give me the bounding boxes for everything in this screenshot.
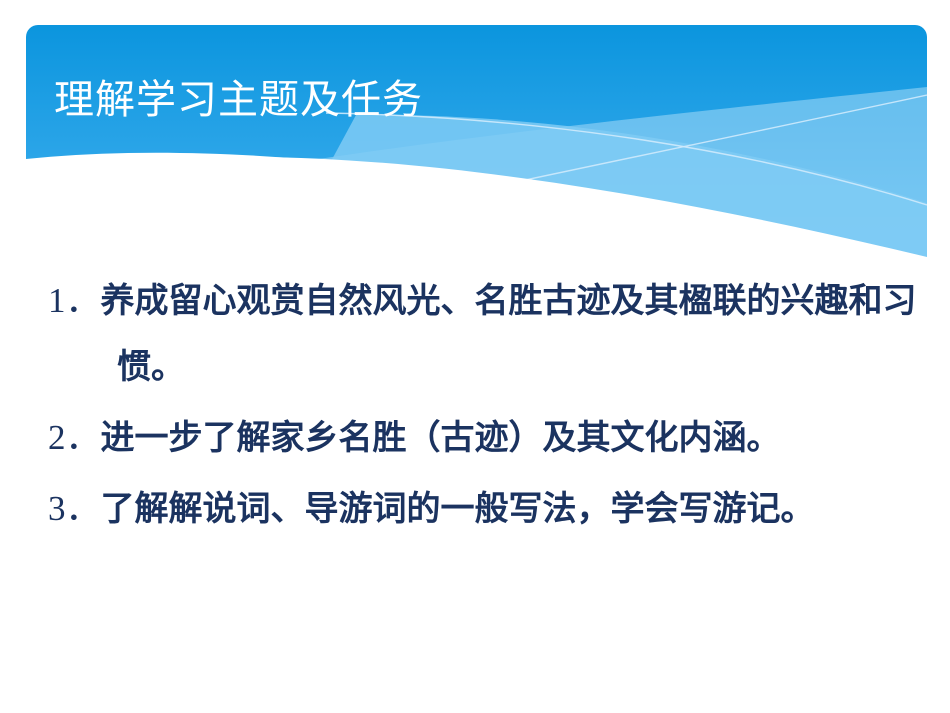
list-item-number: 1． — [48, 281, 101, 320]
list-item-text: 进一步了解家乡名胜（古迹）及其文化内涵。 — [101, 418, 781, 458]
objectives-list: 1．养成留心观赏自然风光、名胜古迹及其楹联的兴趣和习惯。 2．进一步了解家乡名胜… — [48, 268, 918, 547]
list-item-number: 3． — [48, 489, 101, 528]
list-item-number: 2． — [48, 418, 101, 457]
list-item: 3．了解解说词、导游词的一般写法，学会写游记。 — [48, 476, 918, 542]
wave-hairline-a — [326, 113, 927, 205]
slide-title: 理解学习主题及任务 — [54, 74, 854, 126]
wave-white-crest — [26, 157, 927, 263]
header-banner — [26, 25, 927, 263]
list-item: 2．进一步了解家乡名胜（古迹）及其文化内涵。 — [48, 405, 918, 471]
wave-band-light — [276, 115, 927, 263]
list-item-text: 了解解说词、导游词的一般写法，学会写游记。 — [101, 489, 815, 529]
list-item: 1．养成留心观赏自然风光、名胜古迹及其楹联的兴趣和习惯。 — [48, 268, 918, 400]
wave-white-fill-bottom — [26, 153, 927, 263]
presentation-slide: 理解学习主题及任务 1．养成留心观赏自然风光、名胜古迹及其楹联的兴趣和习惯。 2… — [0, 0, 950, 713]
wave-white-main — [26, 154, 927, 263]
list-item-text: 养成留心观赏自然风光、名胜古迹及其楹联的兴趣和习惯。 — [101, 281, 917, 387]
banner-gradient-fill — [26, 25, 927, 263]
